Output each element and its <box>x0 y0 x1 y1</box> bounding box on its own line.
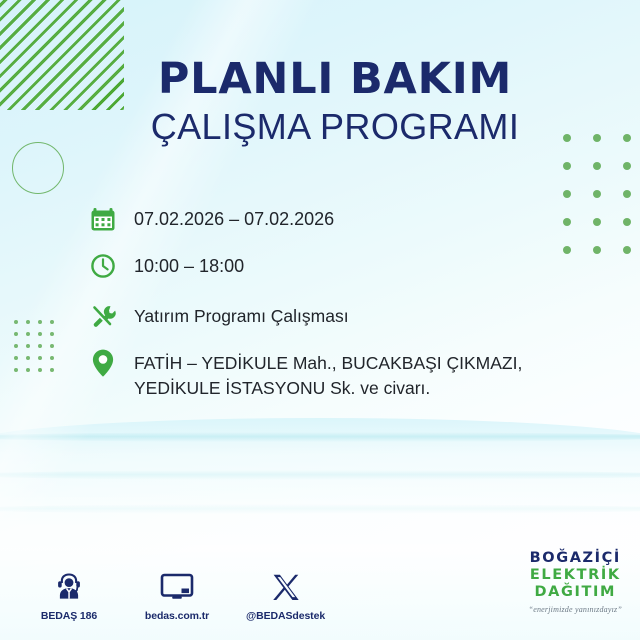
circle-outline-decoration <box>12 142 64 194</box>
contact-x-account-label: @BEDASdestek <box>246 610 324 622</box>
time-range-value: 10:00 – 18:00 <box>120 249 244 280</box>
background-wave-line-1 <box>0 432 640 442</box>
dot-grid-left-decoration <box>10 316 58 376</box>
work-type-value: Yatırım Programı Çalışması <box>120 299 349 329</box>
tools-icon <box>86 299 120 333</box>
contact-call-center[interactable]: BEDAŞ 186 <box>30 563 108 622</box>
date-range-value: 07.02.2026 – 07.02.2026 <box>120 202 334 233</box>
detail-row-work-type: Yatırım Programı Çalışması <box>86 299 606 333</box>
brand-line-3: DAĞITIM <box>529 584 622 601</box>
planned-maintenance-poster: PLANLI BAKIM ÇALIŞMA PROGRAMI <box>0 0 640 640</box>
background-wave-line-2 <box>0 470 640 480</box>
brand-slogan: “enerjimizde yanınızdayız” <box>529 605 622 614</box>
page-title: PLANLI BAKIM <box>0 57 640 102</box>
brand-line-2: ELEKTRİK <box>529 567 622 584</box>
bedas-logo: BOĞAZİÇİ ELEKTRİK DAĞITIM “enerjimizde y… <box>529 550 622 614</box>
detail-row-affected-area: FATİH – YEDİKULE Mah., BUCAKBAŞI ÇIKMAZI… <box>86 346 606 401</box>
affected-area-value: FATİH – YEDİKULE Mah., BUCAKBAŞI ÇIKMAZI… <box>120 346 522 401</box>
location-icon <box>86 346 120 380</box>
contact-x-account[interactable]: @BEDASdestek <box>246 563 324 622</box>
contact-website-label: bedas.com.tr <box>138 610 216 622</box>
contact-website[interactable]: bedas.com.tr <box>138 563 216 622</box>
clock-icon <box>86 249 120 283</box>
page-subtitle: ÇALIŞMA PROGRAMI <box>0 106 640 147</box>
maintenance-details: 07.02.2026 – 07.02.2026 10:00 – 18:00 <box>86 202 606 414</box>
footer-contacts: BEDAŞ 186 bedas.com.tr @BEDASdestek <box>30 563 324 622</box>
poster-header: PLANLI BAKIM ÇALIŞMA PROGRAMI <box>0 57 640 148</box>
detail-row-date-range: 07.02.2026 – 07.02.2026 <box>86 202 606 236</box>
monitor-icon <box>138 563 216 603</box>
brand-line-1: BOĞAZİÇİ <box>529 550 622 567</box>
x-twitter-icon <box>246 563 324 603</box>
detail-row-time-range: 10:00 – 18:00 <box>86 249 606 283</box>
support-agent-icon <box>30 563 108 603</box>
calendar-icon <box>86 202 120 236</box>
contact-call-center-label: BEDAŞ 186 <box>30 610 108 622</box>
